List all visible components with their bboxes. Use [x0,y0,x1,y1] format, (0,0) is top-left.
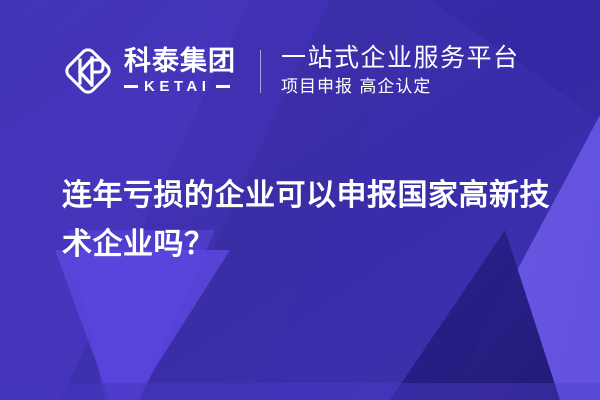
logo-chinese-name: 科泰集团 [124,48,236,76]
logo-english-name: KETAI [144,79,210,94]
banner-header: 科泰集团 KETAI 一站式企业服务平台 项目申报 高企认定 [62,40,520,102]
brand-logo[interactable]: 科泰集团 KETAI [62,40,236,102]
logo-english-row: KETAI [124,79,236,94]
logo-wordmark: 科泰集团 KETAI [124,48,236,94]
tagline-secondary: 项目申报 高企认定 [281,77,520,98]
header-divider [260,50,261,93]
logo-rule-left [124,85,138,88]
ketai-diamond-kp-mark [62,45,114,97]
promo-banner: 科泰集团 KETAI 一站式企业服务平台 项目申报 高企认定 连年亏损的企业可以… [0,0,600,400]
brand-tagline: 一站式企业服务平台 项目申报 高企认定 [281,44,520,98]
page-title: 连年亏损的企业可以申报国家高新技术企业吗？ [62,172,562,269]
logo-rule-right [216,85,230,88]
tagline-primary: 一站式企业服务平台 [281,44,520,73]
